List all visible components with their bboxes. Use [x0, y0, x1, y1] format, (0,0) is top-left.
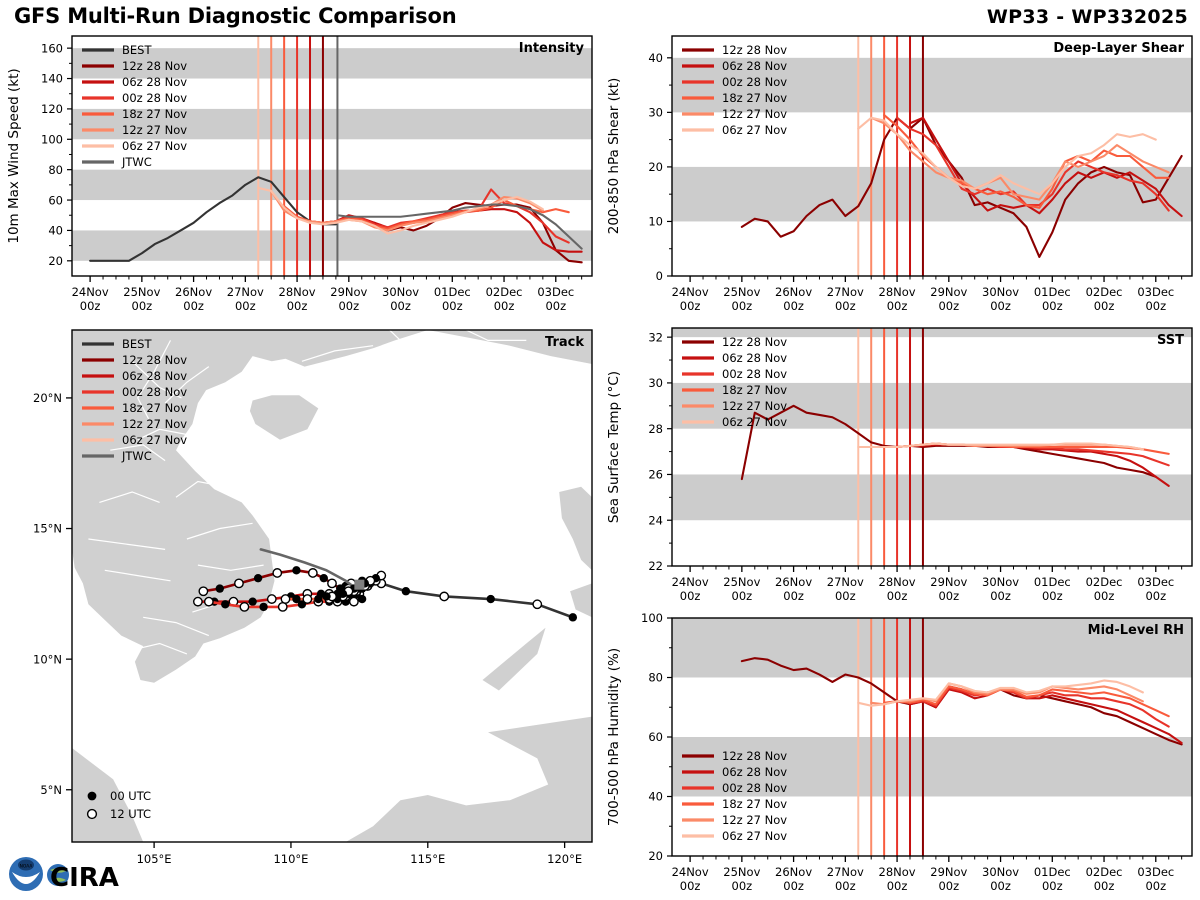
x-tick-label-date: 03Dec — [537, 285, 574, 299]
legend-entry: 06z 27 Nov — [682, 123, 787, 137]
x-tick-label-hour: 00z — [887, 299, 908, 313]
x-tick-label-hour: 00z — [338, 299, 359, 313]
legend-label: BEST — [122, 337, 152, 351]
x-tick-label-date: 28Nov — [879, 865, 916, 879]
y-tick-label: 60 — [648, 730, 663, 744]
legend-label: 06z 28 Nov — [122, 369, 187, 383]
legend-label: 12z 28 Nov — [722, 749, 787, 763]
y-tick-label: 20 — [648, 160, 663, 174]
x-tick-label-hour: 00z — [287, 299, 308, 313]
x-tick-label-hour: 00z — [680, 299, 701, 313]
y-tick-label: 80 — [648, 671, 663, 685]
x-tick-label-hour: 00z — [732, 299, 753, 313]
x-tick-label-date: 30Nov — [982, 865, 1019, 879]
y-tick-label: 160 — [41, 41, 63, 55]
legend-label: JTWC — [121, 155, 152, 169]
x-tick-label-date: 03Dec — [1137, 285, 1174, 299]
track-panel: 105°E110°E115°E120°E5°N10°N15°N20°NTrack… — [0, 322, 600, 882]
lat-tick-label: 15°N — [33, 522, 62, 536]
lat-tick-label: 10°N — [33, 652, 62, 666]
legend-entry: 06z 27 Nov — [82, 139, 187, 153]
x-tick-label-date: 01Dec — [434, 285, 471, 299]
lon-tick-label: 110°E — [273, 852, 308, 866]
legend-label: 00z 28 Nov — [722, 367, 787, 381]
legend-label: 18z 27 Nov — [722, 383, 787, 397]
x-tick-label-date: 28Nov — [279, 285, 316, 299]
y-tick-label: 100 — [641, 611, 663, 625]
panel-title: SST — [1157, 333, 1184, 348]
x-tick-label-date: 27Nov — [227, 285, 264, 299]
x-tick-label-date: 25Nov — [723, 575, 760, 589]
legend-label: 12z 27 Nov — [722, 107, 787, 121]
x-tick-label-hour: 00z — [442, 299, 463, 313]
intensity-chart: 2040608010012014016024Nov00z25Nov00z26No… — [0, 28, 600, 320]
legend-entry: 06z 28 Nov — [682, 351, 787, 365]
lon-tick-label: 120°E — [547, 852, 582, 866]
x-tick-label-date: 01Dec — [1034, 575, 1071, 589]
rh-chart: 2040608010024Nov00z25Nov00z26Nov00z27Nov… — [600, 610, 1200, 900]
lon-tick-label: 115°E — [410, 852, 445, 866]
y-tick-label: 80 — [48, 163, 63, 177]
x-tick-label-hour: 00z — [783, 589, 804, 603]
legend-label: JTWC — [121, 449, 152, 463]
y-tick-label: 30 — [648, 106, 663, 120]
x-tick-label-date: 29Nov — [930, 575, 967, 589]
panel-title: Track — [545, 335, 584, 350]
panel-title: Mid-Level RH — [1088, 623, 1184, 638]
x-tick-label-hour: 00z — [494, 299, 515, 313]
track-map: 105°E110°E115°E120°E5°N10°N15°N20°NTrack… — [0, 322, 600, 882]
legend-entry: JTWC — [82, 155, 152, 169]
legend-label: 12z 28 Nov — [722, 335, 787, 349]
legend-label: 12z 27 Nov — [122, 123, 187, 137]
cira-logo-label: CIRA — [50, 863, 119, 893]
x-tick-label-date: 24Nov — [72, 285, 109, 299]
legend-label: 12z 28 Nov — [722, 43, 787, 57]
x-tick-label-date: 27Nov — [827, 865, 864, 879]
y-axis-label: 10m Max Wind Speed (kt) — [6, 68, 22, 243]
x-tick-label-hour: 00z — [1094, 299, 1115, 313]
x-tick-label-date: 26Nov — [775, 865, 812, 879]
y-tick-label: 0 — [656, 269, 663, 283]
x-tick-label-hour: 00z — [990, 879, 1011, 893]
x-tick-label-date: 02Dec — [486, 285, 523, 299]
x-tick-label-hour: 00z — [1094, 879, 1115, 893]
y-tick-label: 40 — [648, 51, 663, 65]
y-tick-label: 40 — [648, 790, 663, 804]
x-tick-label-hour: 00z — [680, 879, 701, 893]
shear-chart: 01020304024Nov00z25Nov00z26Nov00z27Nov00… — [600, 28, 1200, 320]
y-tick-label: 20 — [48, 254, 63, 268]
legend-label: 00z 28 Nov — [722, 781, 787, 795]
y-axis-label: 200-850 hPa Shear (kt) — [606, 78, 622, 235]
x-tick-label-hour: 00z — [80, 299, 101, 313]
x-tick-label-date: 29Nov — [930, 865, 967, 879]
x-tick-label-date: 01Dec — [1034, 285, 1071, 299]
sst-chart: 22242628303224Nov00z25Nov00z26Nov00z27No… — [600, 320, 1200, 610]
legend-label: 06z 27 Nov — [722, 123, 787, 137]
x-tick-label-date: 25Nov — [723, 285, 760, 299]
cira-wordmark: CIRA — [47, 863, 119, 893]
y-tick-label: 26 — [648, 468, 663, 482]
y-tick-label: 40 — [48, 224, 63, 238]
y-tick-label: 60 — [48, 193, 63, 207]
legend-label: 18z 27 Nov — [722, 797, 787, 811]
legend-label: 18z 27 Nov — [722, 91, 787, 105]
x-tick-label-hour: 00z — [835, 589, 856, 603]
legend-entry: 00z 28 Nov — [682, 367, 787, 381]
x-tick-label-hour: 00z — [887, 879, 908, 893]
x-tick-label-hour: 00z — [887, 589, 908, 603]
legend-label: 12z 28 Nov — [122, 353, 187, 367]
legend-label: 12z 27 Nov — [722, 813, 787, 827]
marker-legend-label: 00 UTC — [110, 789, 151, 803]
legend-label: 18z 27 Nov — [122, 107, 187, 121]
legend-entry: 12z 28 Nov — [682, 335, 787, 349]
x-tick-label-date: 30Nov — [982, 285, 1019, 299]
legend-entry: 00z 28 Nov — [82, 91, 187, 105]
y-tick-label: 140 — [41, 72, 63, 86]
noaa-logo-label: NOAA — [20, 864, 33, 870]
x-tick-label-hour: 00z — [1145, 879, 1166, 893]
x-tick-label-date: 24Nov — [672, 865, 709, 879]
x-tick-label-date: 01Dec — [1034, 865, 1071, 879]
legend-label: 12z 28 Nov — [122, 59, 187, 73]
legend-label: 06z 27 Nov — [722, 415, 787, 429]
shear-panel: 01020304024Nov00z25Nov00z26Nov00z27Nov00… — [600, 28, 1200, 320]
x-tick-label-hour: 00z — [732, 589, 753, 603]
x-tick-label-hour: 00z — [1042, 299, 1063, 313]
legend-label: 06z 27 Nov — [722, 829, 787, 843]
y-tick-label: 24 — [648, 513, 663, 527]
x-tick-label-hour: 00z — [835, 879, 856, 893]
x-tick-label-hour: 00z — [1094, 589, 1115, 603]
x-tick-label-hour: 00z — [990, 299, 1011, 313]
x-tick-label-hour: 00z — [938, 589, 959, 603]
legend-entry: 12z 28 Nov — [682, 43, 787, 57]
x-tick-label-hour: 00z — [732, 879, 753, 893]
legend-entry: 06z 27 Nov — [682, 829, 787, 843]
x-tick-label-hour: 00z — [783, 299, 804, 313]
x-tick-label-date: 02Dec — [1086, 865, 1123, 879]
page-title: GFS Multi-Run Diagnostic Comparison — [14, 4, 456, 28]
y-tick-label: 28 — [648, 422, 663, 436]
legend-label: 00z 28 Nov — [122, 385, 187, 399]
x-tick-label-hour: 00z — [1145, 589, 1166, 603]
legend-entry: 18z 27 Nov — [682, 797, 787, 811]
panel-title: Intensity — [519, 41, 585, 56]
y-axis-label: Sea Surface Temp (°C) — [606, 371, 622, 523]
x-tick-label-hour: 00z — [1042, 879, 1063, 893]
y-tick-label: 100 — [41, 132, 63, 146]
legend-entry: 12z 27 Nov — [682, 813, 787, 827]
x-tick-label-hour: 00z — [783, 879, 804, 893]
x-tick-label-date: 02Dec — [1086, 285, 1123, 299]
storm-id-label: WP33 - WP332025 — [987, 6, 1188, 28]
y-tick-label: 22 — [648, 559, 663, 573]
x-tick-label-date: 25Nov — [123, 285, 160, 299]
x-tick-label-hour: 00z — [680, 589, 701, 603]
lat-tick-label: 5°N — [40, 783, 62, 797]
x-tick-label-date: 29Nov — [330, 285, 367, 299]
legend-label: 06z 27 Nov — [122, 139, 187, 153]
x-tick-label-date: 28Nov — [879, 575, 916, 589]
x-tick-label-date: 25Nov — [723, 865, 760, 879]
x-tick-label-hour: 00z — [183, 299, 204, 313]
rh-panel: 2040608010024Nov00z25Nov00z26Nov00z27Nov… — [600, 610, 1200, 900]
x-tick-label-hour: 00z — [545, 299, 566, 313]
legend-label: BEST — [122, 43, 152, 57]
x-tick-label-date: 24Nov — [672, 285, 709, 299]
x-tick-label-hour: 00z — [132, 299, 153, 313]
x-tick-label-date: 30Nov — [382, 285, 419, 299]
series-06z-28-nov — [910, 689, 1182, 743]
legend-label: 12z 27 Nov — [122, 417, 187, 431]
x-tick-label-hour: 00z — [835, 299, 856, 313]
x-tick-label-hour: 00z — [390, 299, 411, 313]
intensity-panel: 2040608010012014016024Nov00z25Nov00z26No… — [0, 28, 600, 320]
legend-label: 06z 28 Nov — [722, 765, 787, 779]
series-12z-27-nov — [871, 683, 1143, 704]
cira-noaa-logo: NOAA CIRA — [6, 852, 146, 898]
x-tick-label-hour: 00z — [1145, 299, 1166, 313]
legend-label: 00z 28 Nov — [122, 91, 187, 105]
y-tick-label: 10 — [648, 215, 663, 229]
x-tick-label-hour: 00z — [990, 589, 1011, 603]
sst-panel: 22242628303224Nov00z25Nov00z26Nov00z27No… — [600, 320, 1200, 610]
x-tick-label-date: 30Nov — [982, 575, 1019, 589]
x-tick-label-date: 27Nov — [827, 285, 864, 299]
x-tick-label-hour: 00z — [235, 299, 256, 313]
x-tick-label-hour: 00z — [938, 299, 959, 313]
x-tick-label-date: 26Nov — [775, 285, 812, 299]
legend-label: 12z 27 Nov — [722, 399, 787, 413]
legend-label: 06z 28 Nov — [722, 59, 787, 73]
y-tick-label: 30 — [648, 376, 663, 390]
x-tick-label-date: 24Nov — [672, 575, 709, 589]
x-tick-label-date: 02Dec — [1086, 575, 1123, 589]
y-tick-label: 120 — [41, 102, 63, 116]
panel-title: Deep-Layer Shear — [1053, 41, 1184, 56]
series-18z-27-nov — [884, 686, 1169, 716]
x-tick-label-date: 03Dec — [1137, 575, 1174, 589]
x-tick-label-date: 03Dec — [1137, 865, 1174, 879]
marker-legend-label: 12 UTC — [110, 807, 151, 821]
legend-label: 00z 28 Nov — [722, 75, 787, 89]
legend-label: 06z 28 Nov — [122, 75, 187, 89]
x-tick-label-hour: 00z — [1042, 589, 1063, 603]
legend-label: 06z 28 Nov — [722, 351, 787, 365]
legend-label: 18z 27 Nov — [122, 401, 187, 415]
legend-label: 06z 27 Nov — [122, 433, 187, 447]
y-tick-label: 32 — [648, 330, 663, 344]
x-tick-label-date: 28Nov — [879, 285, 916, 299]
y-axis-label: 700-500 hPa Humidity (%) — [606, 648, 622, 826]
x-tick-label-hour: 00z — [938, 879, 959, 893]
x-tick-label-date: 26Nov — [775, 575, 812, 589]
y-tick-label: 20 — [648, 849, 663, 863]
lat-tick-label: 20°N — [33, 391, 62, 405]
x-tick-label-date: 26Nov — [175, 285, 212, 299]
x-tick-label-date: 27Nov — [827, 575, 864, 589]
x-tick-label-date: 29Nov — [930, 285, 967, 299]
